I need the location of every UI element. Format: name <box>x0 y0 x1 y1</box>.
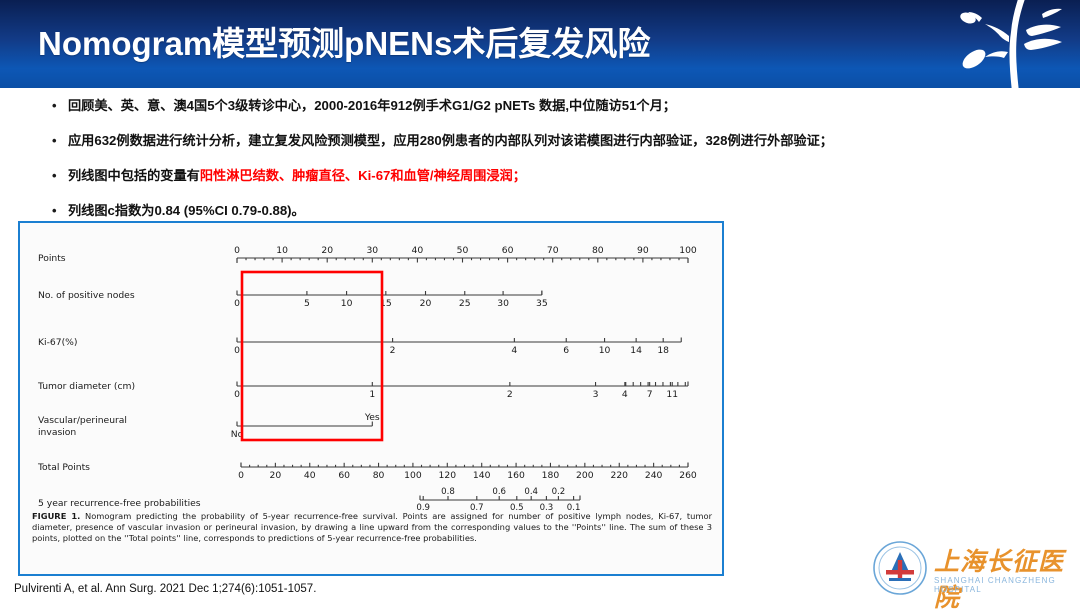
hospital-cross-emblem-icon <box>872 540 928 596</box>
svg-text:11: 11 <box>666 389 678 400</box>
svg-text:200: 200 <box>576 470 594 481</box>
list-item: • 列线图c指数为0.84 (95%CI 0.79-0.88)。 <box>52 201 1042 220</box>
bullet-segment-emphasis: 阳性淋巴结数、肿瘤直径、Ki-67和血管/神经周围浸润 <box>200 168 513 183</box>
page-title: Nomogram模型预测pNENs术后复发风险 <box>38 17 650 65</box>
slide-header: Nomogram模型预测pNENs术后复发风险 <box>0 0 1080 88</box>
bullet-text: 应用632例数据进行统计分析，建立复发风险预测模型，应用280例患者的内部队列对… <box>68 131 833 150</box>
figure-caption-label: FIGURE 1. <box>32 511 80 521</box>
svg-text:Ki-67(%): Ki-67(%) <box>38 337 77 348</box>
svg-text:160: 160 <box>507 470 525 481</box>
svg-text:120: 120 <box>439 470 457 481</box>
svg-text:invasion: invasion <box>38 427 76 438</box>
svg-text:1: 1 <box>369 389 375 400</box>
svg-text:Total Points: Total Points <box>37 462 90 473</box>
svg-text:No. of positive nodes: No. of positive nodes <box>38 290 135 301</box>
svg-text:18: 18 <box>657 345 669 356</box>
svg-text:Points: Points <box>38 253 66 264</box>
svg-text:260: 260 <box>679 470 697 481</box>
svg-text:7: 7 <box>647 389 653 400</box>
svg-text:2: 2 <box>390 345 396 356</box>
svg-text:0: 0 <box>238 470 244 481</box>
svg-text:4: 4 <box>511 345 517 356</box>
svg-text:30: 30 <box>366 245 378 256</box>
svg-text:40: 40 <box>412 245 424 256</box>
list-item: • 应用632例数据进行统计分析，建立复发风险预测模型，应用280例患者的内部队… <box>52 131 1042 150</box>
svg-text:180: 180 <box>542 470 560 481</box>
bullet-marker: • <box>52 96 68 115</box>
svg-text:10: 10 <box>599 345 611 356</box>
svg-text:220: 220 <box>610 470 628 481</box>
svg-text:40: 40 <box>304 470 316 481</box>
svg-text:20: 20 <box>420 298 432 309</box>
bullet-text: 回顾美、英、意、澳4国5个3级转诊中心，2000-2016年912例手术G1/G… <box>68 96 676 115</box>
svg-text:25: 25 <box>459 298 471 309</box>
bullet-marker: • <box>52 166 68 185</box>
citation-text: Pulvirenti A, et al. Ann Surg. 2021 Dec … <box>14 583 316 595</box>
nomogram-chart: PointsNo. of positive nodesKi-67(%)Tumor… <box>20 223 720 513</box>
bullet-marker: • <box>52 131 68 150</box>
svg-text:20: 20 <box>321 245 333 256</box>
svg-text:3: 3 <box>593 389 599 400</box>
svg-text:Tumor diameter (cm): Tumor diameter (cm) <box>37 381 135 392</box>
svg-text:4: 4 <box>622 389 628 400</box>
bullet-segment: 列线图c指数为0.84 (95%CI 0.79-0.88)。 <box>68 203 305 218</box>
svg-text:10: 10 <box>341 298 353 309</box>
svg-text:5 year recurrence-free probabi: 5 year recurrence-free probabilities <box>38 498 201 509</box>
svg-text:100: 100 <box>404 470 422 481</box>
svg-text:14: 14 <box>630 345 642 356</box>
svg-text:20: 20 <box>270 470 282 481</box>
bullet-text: 列线图c指数为0.84 (95%CI 0.79-0.88)。 <box>68 201 305 220</box>
svg-text:50: 50 <box>457 245 469 256</box>
svg-text:0: 0 <box>234 298 240 309</box>
svg-text:240: 240 <box>645 470 663 481</box>
svg-text:0.6: 0.6 <box>492 487 506 497</box>
figure-caption: FIGURE 1. Nomogram predicting the probab… <box>32 511 712 545</box>
hospital-logo: 上海长征医院 SHANGHAI CHANGZHENG HOSPITAL <box>872 540 1072 600</box>
svg-text:80: 80 <box>592 245 604 256</box>
svg-text:0: 0 <box>234 389 240 400</box>
hospital-name-en: SHANGHAI CHANGZHENG HOSPITAL <box>934 576 1072 594</box>
bullet-marker: • <box>52 201 68 220</box>
figure-caption-text: Nomogram predicting the probability of 5… <box>32 511 712 543</box>
svg-text:Vascular/perineural: Vascular/perineural <box>38 415 127 426</box>
list-item: • 回顾美、英、意、澳4国5个3级转诊中心，2000-2016年912例手术G1… <box>52 96 1042 115</box>
svg-text:90: 90 <box>637 245 649 256</box>
bullet-segment: 应用632例数据进行统计分析，建立复发风险预测模型，应用280例患者的内部队列对… <box>68 133 833 148</box>
svg-text:5: 5 <box>304 298 310 309</box>
bullet-segment-tail: ； <box>513 168 526 183</box>
list-item: • 列线图中包括的变量有阳性淋巴结数、肿瘤直径、Ki-67和血管/神经周围浸润； <box>52 166 1042 185</box>
svg-text:2: 2 <box>507 389 513 400</box>
bullet-segment: 回顾美、英、意、澳4国5个3级转诊中心，2000-2016年912例手术G1/G… <box>68 98 676 113</box>
svg-text:100: 100 <box>679 245 697 256</box>
svg-text:0: 0 <box>234 345 240 356</box>
svg-text:70: 70 <box>547 245 559 256</box>
svg-text:0.8: 0.8 <box>441 487 455 497</box>
svg-text:30: 30 <box>497 298 509 309</box>
bullet-segment: 列线图中包括的变量有 <box>68 168 200 183</box>
svg-text:60: 60 <box>338 470 350 481</box>
bullet-list: • 回顾美、英、意、澳4国5个3级转诊中心，2000-2016年912例手术G1… <box>52 96 1042 236</box>
svg-text:60: 60 <box>502 245 514 256</box>
bullet-text: 列线图中包括的变量有阳性淋巴结数、肿瘤直径、Ki-67和血管/神经周围浸润； <box>68 166 526 185</box>
svg-text:6: 6 <box>563 345 569 356</box>
tree-branch-icon <box>942 0 1074 88</box>
svg-text:0: 0 <box>234 245 240 256</box>
svg-text:140: 140 <box>473 470 491 481</box>
svg-text:10: 10 <box>276 245 288 256</box>
nomogram-figure-panel: PointsNo. of positive nodesKi-67(%)Tumor… <box>18 221 724 576</box>
svg-text:35: 35 <box>536 298 548 309</box>
svg-text:80: 80 <box>373 470 385 481</box>
svg-text:0.4: 0.4 <box>524 487 538 497</box>
svg-text:0.2: 0.2 <box>552 487 566 497</box>
svg-text:Yes: Yes <box>364 412 380 423</box>
